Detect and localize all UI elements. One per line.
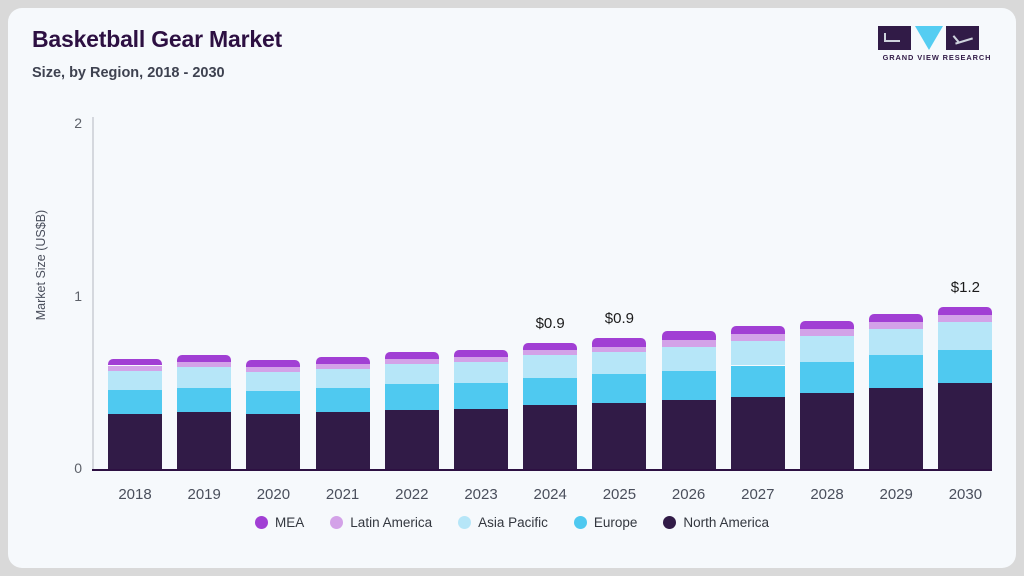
bar-group-2018[interactable] [108, 359, 162, 469]
bar-segment-2027-mea[interactable] [731, 326, 785, 335]
bar-segment-2023-mea[interactable] [454, 350, 508, 357]
bar-segment-2021-mea[interactable] [316, 357, 370, 364]
bar-group-2030[interactable] [938, 307, 992, 469]
bar-segment-2021-latin-america[interactable] [316, 364, 370, 369]
bar-segment-2026-asia-pacific[interactable] [662, 347, 716, 371]
bar-group-2027[interactable] [731, 326, 785, 469]
bar-segment-2022-north-america[interactable] [385, 410, 439, 469]
bar-group-2024[interactable] [523, 343, 577, 469]
bar-segment-2022-mea[interactable] [385, 352, 439, 359]
bar-segment-2027-europe[interactable] [731, 366, 785, 397]
bar-group-2023[interactable] [454, 350, 508, 469]
bar-segment-2025-north-america[interactable] [592, 403, 646, 469]
bar-segment-2028-europe[interactable] [800, 362, 854, 393]
legend-label: MEA [275, 515, 304, 530]
chart-card: Basketball Gear Market Size, by Region, … [8, 8, 1016, 568]
x-axis-line [92, 469, 992, 471]
bar-segment-2029-latin-america[interactable] [869, 322, 923, 329]
legend-swatch-icon [458, 516, 471, 529]
bar-segment-2018-latin-america[interactable] [108, 366, 162, 371]
bar-segment-2019-north-america[interactable] [177, 412, 231, 469]
bar-segment-2030-mea[interactable] [938, 307, 992, 316]
bar-group-2026[interactable] [662, 331, 716, 469]
bar-segment-2021-europe[interactable] [316, 388, 370, 412]
bar-segment-2025-mea[interactable] [592, 338, 646, 347]
y-axis-tick-0: 0 [42, 460, 82, 476]
bar-segment-2028-asia-pacific[interactable] [800, 336, 854, 362]
bar-segment-2020-asia-pacific[interactable] [246, 372, 300, 391]
legend-label: North America [683, 515, 769, 530]
bar-segment-2021-asia-pacific[interactable] [316, 369, 370, 388]
bar-segment-2022-europe[interactable] [385, 384, 439, 410]
bar-segment-2024-mea[interactable] [523, 343, 577, 350]
bar-segment-2018-mea[interactable] [108, 359, 162, 366]
x-axis-tick-2030: 2030 [920, 486, 1010, 503]
bar-segment-2028-north-america[interactable] [800, 393, 854, 469]
bar-segment-2026-north-america[interactable] [662, 400, 716, 469]
bar-segment-2023-latin-america[interactable] [454, 357, 508, 362]
y-axis-label: Market Size (US$B) [34, 185, 48, 345]
legend-swatch-icon [255, 516, 268, 529]
bar-segment-2024-europe[interactable] [523, 378, 577, 406]
legend-item-europe[interactable]: Europe [574, 515, 638, 530]
bar-group-2020[interactable] [246, 360, 300, 469]
bar-segment-2026-europe[interactable] [662, 371, 716, 400]
bar-segment-2020-mea[interactable] [246, 360, 300, 367]
bar-group-2022[interactable] [385, 352, 439, 469]
bar-segment-2030-north-america[interactable] [938, 383, 992, 469]
bar-segment-2026-mea[interactable] [662, 331, 716, 340]
bar-segment-2027-latin-america[interactable] [731, 334, 785, 341]
bar-segment-2019-europe[interactable] [177, 388, 231, 412]
legend-item-mea[interactable]: MEA [255, 515, 304, 530]
bar-segment-2019-latin-america[interactable] [177, 362, 231, 367]
legend-swatch-icon [574, 516, 587, 529]
bar-segment-2022-asia-pacific[interactable] [385, 364, 439, 385]
legend-item-asia-pacific[interactable]: Asia Pacific [458, 515, 548, 530]
bar-segment-2030-europe[interactable] [938, 350, 992, 383]
bar-segment-2025-europe[interactable] [592, 374, 646, 403]
bar-segment-2018-europe[interactable] [108, 390, 162, 414]
bar-segment-2022-latin-america[interactable] [385, 359, 439, 364]
y-axis-tick-2: 2 [42, 115, 82, 131]
y-axis-line [92, 117, 94, 469]
bar-group-2025[interactable] [592, 338, 646, 469]
bar-segment-2018-asia-pacific[interactable] [108, 371, 162, 390]
bar-segment-2019-mea[interactable] [177, 355, 231, 362]
bar-value-label-2025: $0.9 [574, 310, 664, 327]
bar-segment-2023-asia-pacific[interactable] [454, 362, 508, 383]
bar-segment-2020-latin-america[interactable] [246, 367, 300, 372]
bar-group-2019[interactable] [177, 355, 231, 469]
chart-legend: MEALatin AmericaAsia PacificEuropeNorth … [8, 515, 1016, 530]
bar-segment-2027-asia-pacific[interactable] [731, 341, 785, 365]
legend-label: Europe [594, 515, 638, 530]
bar-segment-2023-europe[interactable] [454, 383, 508, 409]
bar-segment-2018-north-america[interactable] [108, 414, 162, 469]
bar-segment-2021-north-america[interactable] [316, 412, 370, 469]
bar-segment-2029-europe[interactable] [869, 355, 923, 388]
bar-group-2028[interactable] [800, 321, 854, 469]
y-axis-tick-1: 1 [42, 288, 82, 304]
bar-segment-2019-asia-pacific[interactable] [177, 367, 231, 388]
bar-group-2021[interactable] [316, 357, 370, 469]
chart-plot-area: Market Size (US$B) 012 20182019202020212… [8, 8, 1016, 568]
bar-segment-2028-latin-america[interactable] [800, 329, 854, 336]
bar-segment-2025-latin-america[interactable] [592, 347, 646, 352]
bar-value-label-2030: $1.2 [920, 279, 1010, 296]
bar-segment-2028-mea[interactable] [800, 321, 854, 330]
legend-swatch-icon [330, 516, 343, 529]
bar-segment-2020-europe[interactable] [246, 391, 300, 413]
bar-segment-2024-asia-pacific[interactable] [523, 355, 577, 377]
bar-segment-2025-asia-pacific[interactable] [592, 352, 646, 374]
legend-item-north-america[interactable]: North America [663, 515, 769, 530]
legend-item-latin-america[interactable]: Latin America [330, 515, 432, 530]
legend-label: Asia Pacific [478, 515, 548, 530]
bar-segment-2020-north-america[interactable] [246, 414, 300, 469]
bar-segment-2023-north-america[interactable] [454, 409, 508, 469]
bar-segment-2030-latin-america[interactable] [938, 315, 992, 322]
legend-label: Latin America [350, 515, 432, 530]
bar-segment-2029-mea[interactable] [869, 314, 923, 323]
bar-group-2029[interactable] [869, 314, 923, 469]
bar-segment-2026-latin-america[interactable] [662, 340, 716, 347]
bar-segment-2029-north-america[interactable] [869, 388, 923, 469]
bar-segment-2029-asia-pacific[interactable] [869, 329, 923, 355]
bar-segment-2027-north-america[interactable] [731, 397, 785, 469]
bar-segment-2024-latin-america[interactable] [523, 350, 577, 355]
bar-segment-2024-north-america[interactable] [523, 405, 577, 469]
legend-swatch-icon [663, 516, 676, 529]
bar-segment-2030-asia-pacific[interactable] [938, 322, 992, 350]
